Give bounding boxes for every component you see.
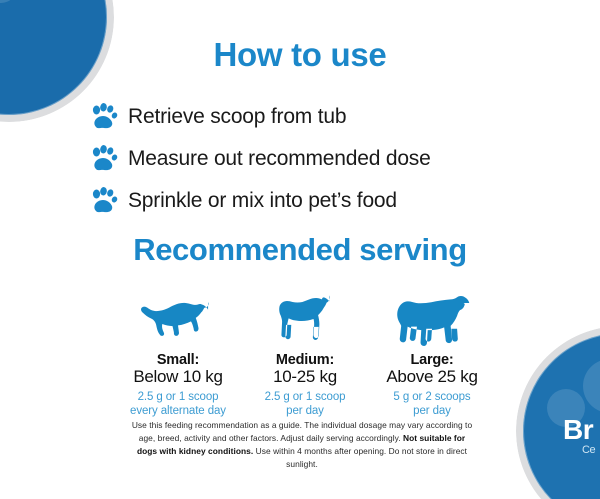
list-item-label: Retrieve scoop from tub (128, 105, 346, 129)
serving-size-small: Small: Below 10 kg 2.5 g or 1 scoop ever… (118, 284, 238, 419)
medium-dog-icon (245, 284, 365, 346)
list-item-label: Sprinkle or mix into pet’s food (128, 189, 397, 213)
paw-print-icon (88, 145, 118, 173)
large-dog-icon (372, 284, 492, 346)
product-lid-bottom-right: Br Ce (516, 326, 600, 499)
size-weight: Below 10 kg (118, 368, 238, 387)
serving-size-large: Large: Above 25 kg 5 g or 2 scoops per d… (372, 284, 492, 419)
size-dose: 2.5 g or 1 scoop per day (245, 390, 365, 419)
size-weight: 10-25 kg (245, 368, 365, 387)
size-dose-line-2: every alternate day (118, 404, 238, 418)
size-dose: 2.5 g or 1 scoop every alternate day (118, 390, 238, 419)
list-item: Sprinkle or mix into pet’s food (88, 180, 518, 222)
serving-size-medium: Medium: 10-25 kg 2.5 g or 1 scoop per da… (245, 284, 365, 419)
page-title: How to use (0, 36, 600, 74)
steps-list: Retrieve scoop from tub Measure out reco… (88, 96, 518, 222)
paw-print-icon (88, 187, 118, 215)
lid-brand-fragment: Br (563, 414, 593, 446)
serving-size-row: Small: Below 10 kg 2.5 g or 1 scoop ever… (118, 284, 492, 419)
size-label: Small: (118, 353, 238, 368)
size-dose-line-2: per day (245, 404, 365, 418)
size-label: Medium: (245, 353, 365, 368)
size-label: Large: (372, 353, 492, 368)
paw-print-icon (88, 103, 118, 131)
list-item-label: Measure out recommended dose (128, 147, 431, 171)
disclaimer-text: Use this feeding recommendation as a gui… (128, 419, 476, 471)
section-title-recommended-serving: Recommended serving (0, 232, 600, 268)
size-dose-line-1: 2.5 g or 1 scoop (245, 390, 365, 404)
size-dose-line-1: 5 g or 2 scoops (372, 390, 492, 404)
small-dog-icon (118, 284, 238, 346)
list-item: Retrieve scoop from tub (88, 96, 518, 138)
lid-brand-subtext-fragment: Ce (582, 444, 595, 456)
size-weight: Above 25 kg (372, 368, 492, 387)
size-dose-line-1: 2.5 g or 1 scoop (118, 390, 238, 404)
disclaimer-part-2: Use within 4 months after opening. Do no… (253, 446, 467, 469)
list-item: Measure out recommended dose (88, 138, 518, 180)
size-dose-line-2: per day (372, 404, 492, 418)
size-dose: 5 g or 2 scoops per day (372, 390, 492, 419)
how-to-use-panel: TM der Br Ce How to use (0, 0, 600, 499)
